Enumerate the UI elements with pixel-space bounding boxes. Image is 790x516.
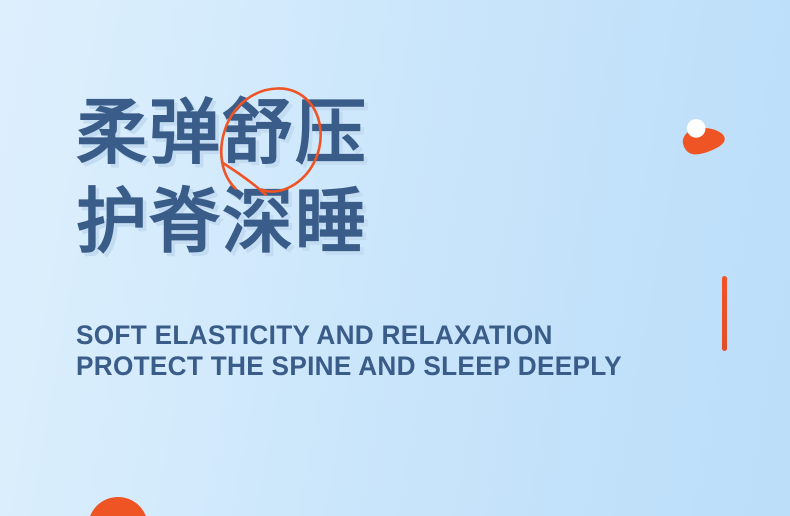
headline: 柔弹舒压 护脊深睡 bbox=[76, 98, 368, 258]
headline-line-2: 护脊深睡 bbox=[76, 187, 368, 258]
promo-banner: 柔弹舒压 护脊深睡 SOFT ELASTICITY AND RELAXATION… bbox=[0, 0, 790, 516]
subtitle-line-1: SOFT ELASTICITY AND RELAXATION bbox=[76, 320, 622, 351]
orange-blob-decoration bbox=[678, 116, 730, 162]
orange-vertical-bar-decoration bbox=[722, 276, 727, 351]
orange-corner-circle-decoration bbox=[88, 497, 148, 516]
white-dot-icon bbox=[687, 119, 706, 138]
hand-drawn-ellipse-icon bbox=[213, 78, 333, 203]
headline-line-1: 柔弹舒压 bbox=[76, 98, 368, 169]
orange-blob-icon bbox=[678, 116, 730, 162]
subtitle-line-2: PROTECT THE SPINE AND SLEEP DEEPLY bbox=[76, 351, 622, 382]
subtitle: SOFT ELASTICITY AND RELAXATION PROTECT T… bbox=[76, 320, 639, 381]
